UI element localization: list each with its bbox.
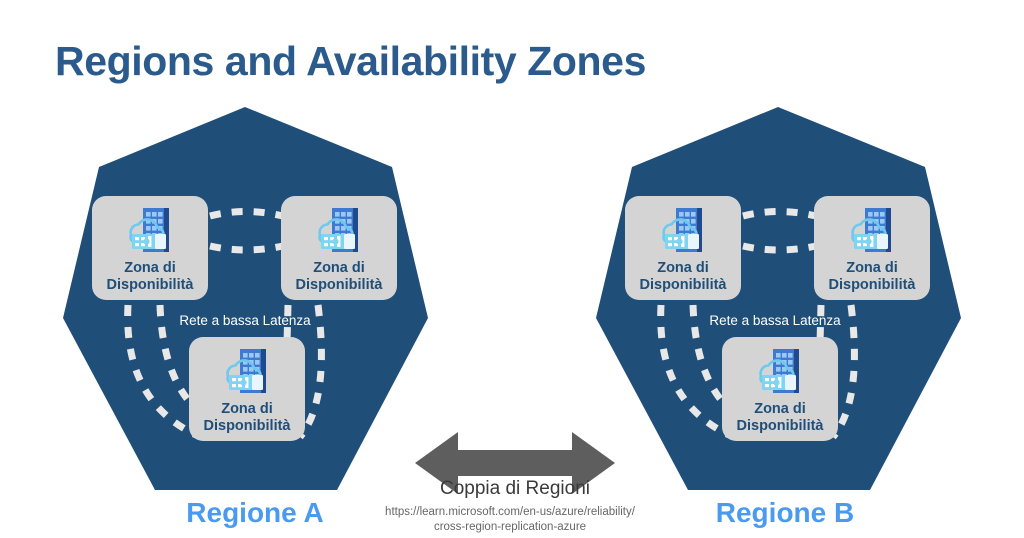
datacenter-building-cloud-icon xyxy=(216,343,278,399)
page-title: Regions and Availability Zones xyxy=(55,38,646,85)
diagram-canvas: Regions and Availability Zones Zona di D… xyxy=(0,0,1024,538)
source-url-line1: https://learn.microsoft.com/en-us/azure/… xyxy=(355,505,665,520)
zone-card-b-2[interactable]: Zona di Disponibilità xyxy=(814,196,930,300)
zone-card-label-line1: Zona di xyxy=(814,260,930,277)
zone-card-a-1[interactable]: Zona di Disponibilità xyxy=(92,196,208,300)
zone-card-label-line2: Disponibilità xyxy=(189,418,305,435)
zone-card-label-line2: Disponibilità xyxy=(92,277,208,294)
region-a-label: Regione A xyxy=(120,497,390,529)
region-b-label: Regione B xyxy=(650,497,920,529)
zone-card-label-line1: Zona di xyxy=(92,260,208,277)
datacenter-building-cloud-icon xyxy=(652,202,714,258)
region-pair-label: Coppia di Regioni xyxy=(400,478,630,500)
source-url: https://learn.microsoft.com/en-us/azure/… xyxy=(355,505,665,535)
zone-card-label-line2: Disponibilità xyxy=(814,277,930,294)
zone-card-label-line1: Zona di xyxy=(189,401,305,418)
zone-card-label: Zona di Disponibilità xyxy=(814,260,930,294)
zone-card-label-line1: Zona di xyxy=(281,260,397,277)
zone-card-b-1[interactable]: Zona di Disponibilità xyxy=(625,196,741,300)
zone-card-b-3[interactable]: Zona di Disponibilità xyxy=(722,337,838,441)
zone-card-label: Zona di Disponibilità xyxy=(722,401,838,435)
datacenter-building-cloud-icon xyxy=(308,202,370,258)
zone-card-label: Zona di Disponibilità xyxy=(281,260,397,294)
zone-card-label: Zona di Disponibilità xyxy=(92,260,208,294)
region-a-latency-label: Rete a bassa Latenza xyxy=(120,313,370,328)
zone-card-a-3[interactable]: Zona di Disponibilità xyxy=(189,337,305,441)
zone-card-label: Zona di Disponibilità xyxy=(189,401,305,435)
region-b-latency-label: Rete a bassa Latenza xyxy=(650,313,900,328)
datacenter-building-cloud-icon xyxy=(749,343,811,399)
zone-card-label-line1: Zona di xyxy=(722,401,838,418)
zone-card-label-line2: Disponibilità xyxy=(722,418,838,435)
datacenter-building-cloud-icon xyxy=(841,202,903,258)
source-url-line2: cross-region-replication-azure xyxy=(355,520,665,535)
datacenter-building-cloud-icon xyxy=(119,202,181,258)
zone-card-a-2[interactable]: Zona di Disponibilità xyxy=(281,196,397,300)
zone-card-label-line2: Disponibilità xyxy=(281,277,397,294)
zone-card-label-line1: Zona di xyxy=(625,260,741,277)
zone-card-label: Zona di Disponibilità xyxy=(625,260,741,294)
zone-card-label-line2: Disponibilità xyxy=(625,277,741,294)
